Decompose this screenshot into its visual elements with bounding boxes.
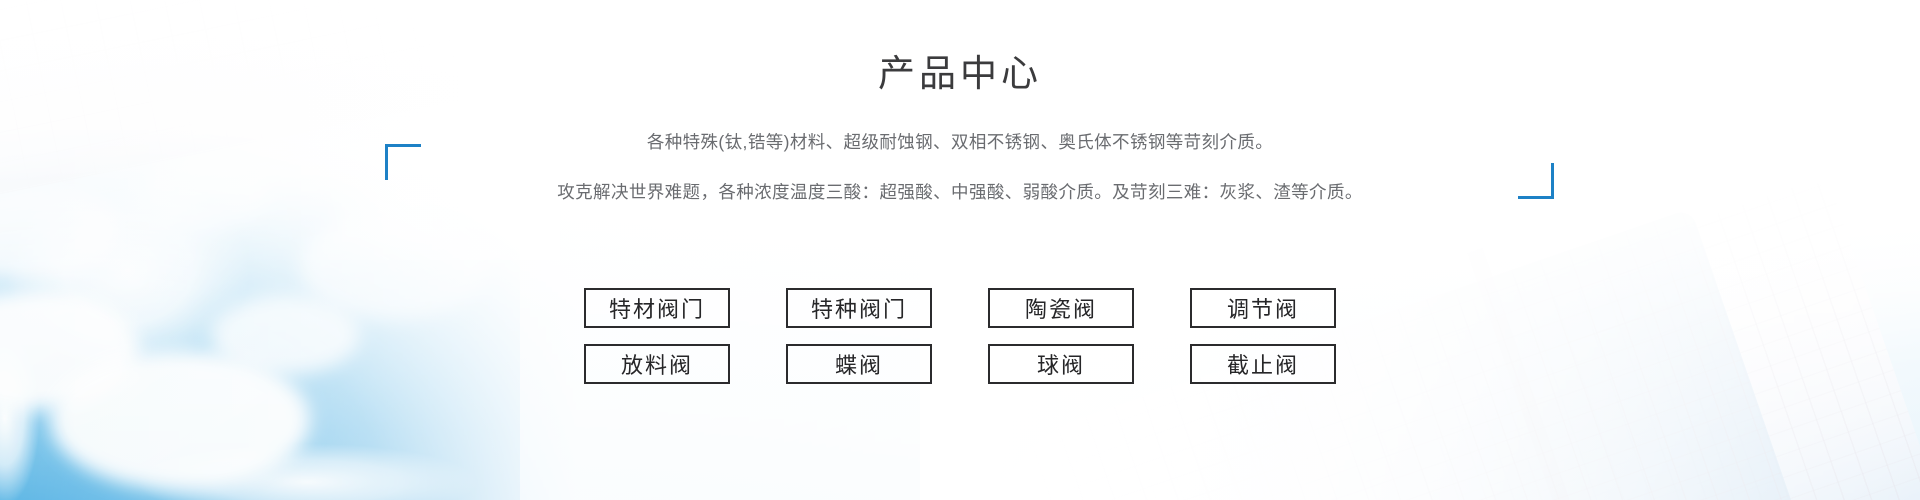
category-button-special-type-valve[interactable]: 特种阀门 <box>786 288 932 328</box>
category-button-special-material-valve[interactable]: 特材阀门 <box>584 288 730 328</box>
bracket-vertical-rule <box>1551 163 1554 199</box>
page-title: 产品中心 <box>0 52 1920 96</box>
category-button-globe-valve[interactable]: 截止阀 <box>1190 344 1336 384</box>
product-center-banner: 产品中心 各种特殊(钛,锆等)材料、超级耐蚀钢、双相不锈钢、奥氏体不锈钢等苛刻介… <box>0 0 1920 500</box>
banner-content: 产品中心 各种特殊(钛,锆等)材料、超级耐蚀钢、双相不锈钢、奥氏体不锈钢等苛刻介… <box>0 0 1920 500</box>
description-line-1: 各种特殊(钛,锆等)材料、超级耐蚀钢、双相不锈钢、奥氏体不锈钢等苛刻介质。 <box>0 120 1920 156</box>
product-category-grid: 特材阀门 特种阀门 陶瓷阀 调节阀 放料阀 蝶阀 球阀 截止阀 <box>0 288 1920 384</box>
category-button-ceramic-valve[interactable]: 陶瓷阀 <box>988 288 1134 328</box>
decorative-corner-bracket-bottom-right <box>1518 163 1554 199</box>
description-block: 各种特殊(钛,锆等)材料、超级耐蚀钢、双相不锈钢、奥氏体不锈钢等苛刻介质。 攻克… <box>0 120 1920 206</box>
description-line-2: 攻克解决世界难题，各种浓度温度三酸：超强酸、中强酸、弱酸介质。及苛刻三难：灰浆、… <box>0 156 1920 206</box>
category-button-control-valve[interactable]: 调节阀 <box>1190 288 1336 328</box>
bracket-horizontal-rule <box>1518 196 1554 199</box>
product-category-row-1: 特材阀门 特种阀门 陶瓷阀 调节阀 <box>584 288 1336 328</box>
category-button-butterfly-valve[interactable]: 蝶阀 <box>786 344 932 384</box>
product-category-row-2: 放料阀 蝶阀 球阀 截止阀 <box>584 344 1336 384</box>
category-button-ball-valve[interactable]: 球阀 <box>988 344 1134 384</box>
category-button-discharge-valve[interactable]: 放料阀 <box>584 344 730 384</box>
